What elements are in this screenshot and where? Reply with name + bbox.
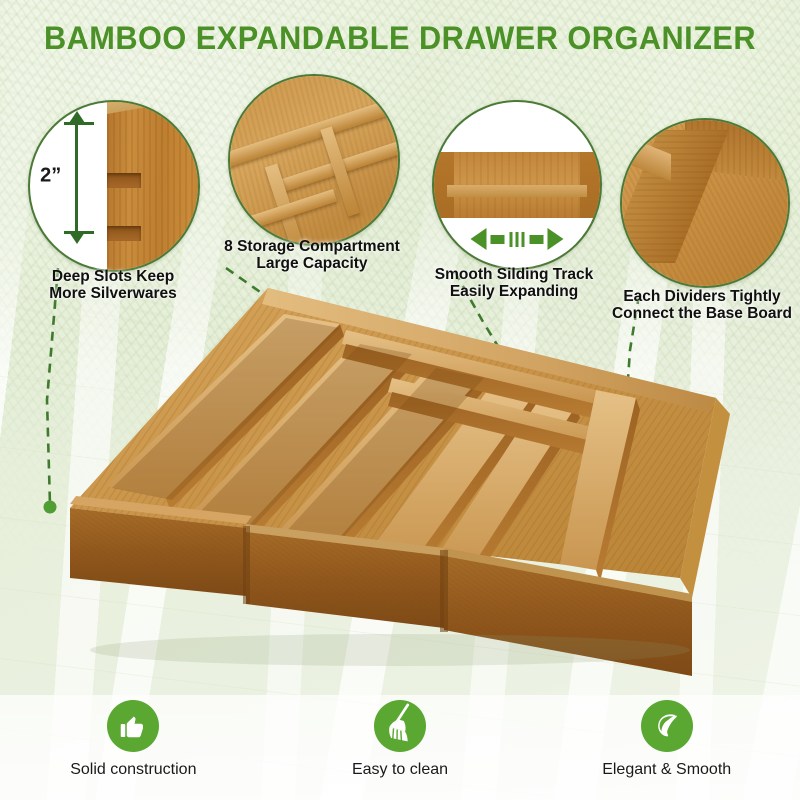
dimension-arrow [75, 122, 78, 233]
dimension-cap-top [64, 122, 94, 125]
callout-circle-sliding-track [432, 100, 602, 270]
product-image-drawer-organizer [40, 278, 760, 678]
page-title: BAMBOO EXPANDABLE DRAWER ORGANIZER [16, 20, 784, 57]
slot-gap-upper [107, 173, 141, 188]
dimension-value: 2” [40, 164, 61, 187]
feature-list: Solid construction Easy to clean [0, 700, 800, 800]
feature-elegant-smooth: Elegant & Smooth [533, 700, 800, 779]
broom-icon [374, 700, 426, 752]
callout-circle-deep-slots: 2” [28, 100, 200, 272]
feature-label: Easy to clean [352, 761, 448, 779]
dimension-cap-bottom [64, 231, 94, 234]
feature-label: Elegant & Smooth [602, 761, 731, 779]
callout-circle-divider-base [620, 118, 790, 288]
leaf-icon [641, 700, 693, 752]
slide-seam-left [243, 526, 250, 604]
thumbs-up-icon [107, 700, 159, 752]
track-ticks [510, 232, 525, 247]
caption-compartments: 8 Storage Compartment Large Capacity [206, 238, 418, 273]
callout-circle-compartments [228, 74, 400, 246]
slot-gap-lower [107, 226, 141, 241]
feature-solid-construction: Solid construction [0, 700, 267, 779]
arrow-right-icon [548, 228, 564, 250]
arrow-left-stem [491, 235, 505, 244]
feature-easy-to-clean: Easy to clean [267, 700, 534, 779]
expand-arrows [471, 228, 564, 250]
arrow-right-stem [530, 235, 544, 244]
infographic-canvas: BAMBOO EXPANDABLE DRAWER ORGANIZER 2” [0, 0, 800, 800]
feature-label: Solid construction [70, 761, 196, 779]
track-rail [447, 185, 586, 197]
arrow-left-icon [471, 228, 487, 250]
slide-seam-right [440, 550, 448, 632]
